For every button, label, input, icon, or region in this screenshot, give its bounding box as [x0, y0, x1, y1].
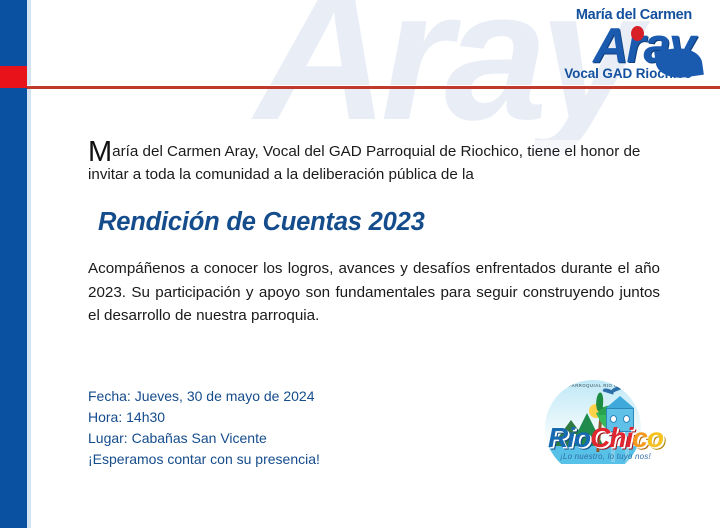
wordmark-chi: Chi [590, 422, 632, 453]
tower-roof-icon [606, 396, 634, 408]
event-title: Rendición de Cuentas 2023 [98, 208, 663, 237]
header-red-rule [27, 85, 720, 89]
wordmark-rio: Rio [548, 422, 590, 453]
detail-lugar: Lugar: Cabañas San Vicente [88, 428, 320, 449]
detail-fecha: Fecha: Jueves, 30 de mayo de 2024 [88, 386, 320, 407]
riochico-logo: GAD PARROQUIAL RIO CHICO [533, 380, 678, 480]
left-red-accent-block [0, 66, 27, 88]
wordmark-o: o [647, 422, 663, 453]
body-paragraph: Acompáñenos a conocer los logros, avance… [88, 257, 660, 328]
bird-wing-icon [611, 385, 623, 393]
flyer-content: María del Carmen Aray, Vocal del GAD Par… [88, 140, 663, 328]
intro-text: aría del Carmen Aray, Vocal del GAD Parr… [88, 143, 640, 183]
aray-logo: María del Carmen Aray Vocal GAD Riochico [493, 8, 698, 82]
aray-logo-red-dot-icon [631, 26, 644, 41]
intro-paragraph: María del Carmen Aray, Vocal del GAD Par… [88, 140, 663, 186]
wordmark-c: c [632, 422, 647, 453]
event-details: Fecha: Jueves, 30 de mayo de 2024 Hora: … [88, 386, 320, 470]
riochico-wordmark: RioChico [533, 424, 678, 452]
left-bar-light-edge [27, 0, 31, 528]
riochico-arc-text: GAD PARROQUIAL RIO CHICO [545, 383, 641, 388]
riochico-slogan: ¡Lo nuestro, lo tuyo nos! [533, 452, 678, 461]
detail-closing: ¡Esperamos contar con su presencia! [88, 449, 320, 470]
detail-hora: Hora: 14h30 [88, 407, 320, 428]
invitation-flyer: Aray María del Carmen Aray Vocal GAD Rio… [0, 0, 720, 528]
intro-dropcap: M [88, 136, 112, 168]
bird-icon [603, 386, 623, 396]
